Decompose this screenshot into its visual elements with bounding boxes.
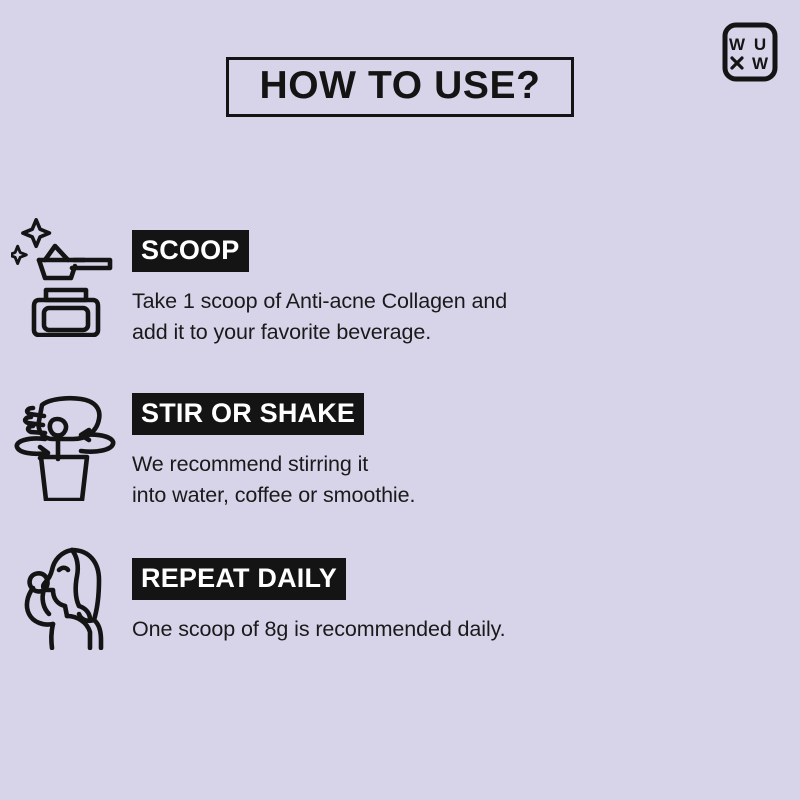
step-badge-repeat-daily: REPEAT DAILY: [132, 558, 346, 600]
step-body-repeat-daily: REPEAT DAILY One scoop of 8g is recommen…: [132, 536, 506, 645]
step-item-stir-or-shake: STIR OR SHAKE We recommend stirring it i…: [0, 371, 800, 510]
step-badge-stir-or-shake: STIR OR SHAKE: [132, 393, 364, 435]
step-description-stir-or-shake: We recommend stirring it into water, cof…: [132, 449, 415, 510]
step-body-stir-or-shake: STIR OR SHAKE We recommend stirring it i…: [132, 371, 415, 510]
step-description-repeat-daily: One scoop of 8g is recommended daily.: [132, 614, 506, 645]
step-body-scoop: SCOOP Take 1 scoop of Anti-acne Collagen…: [132, 208, 507, 347]
woman-drinking-icon: [0, 536, 132, 650]
jar-with-scoop-icon: [0, 208, 132, 337]
svg-text:U: U: [754, 35, 766, 54]
hand-stirring-glass-icon: [0, 371, 132, 501]
steps-list: SCOOP Take 1 scoop of Anti-acne Collagen…: [0, 208, 800, 650]
page-title-container: HOW TO USE?: [0, 57, 800, 117]
step-description-scoop: Take 1 scoop of Anti-acne Collagen and a…: [132, 286, 507, 347]
step-item-scoop: SCOOP Take 1 scoop of Anti-acne Collagen…: [0, 208, 800, 347]
step-badge-scoop: SCOOP: [132, 230, 249, 272]
step-item-repeat-daily: REPEAT DAILY One scoop of 8g is recommen…: [0, 536, 800, 650]
page-title: HOW TO USE?: [259, 66, 540, 105]
page-title-box: HOW TO USE?: [226, 57, 573, 117]
svg-text:W: W: [729, 35, 746, 54]
